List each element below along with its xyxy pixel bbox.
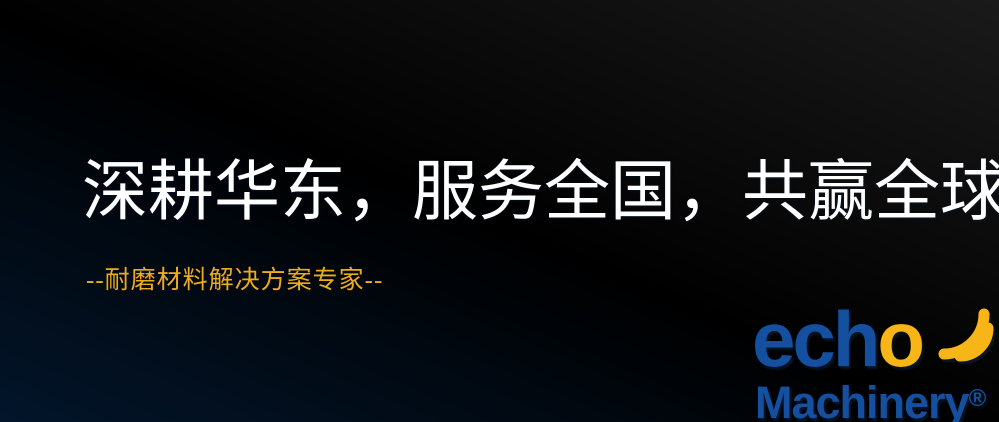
- logo-subtext: Machinery®: [755, 376, 986, 422]
- banner-headline: 深耕华东，服务全国，共赢全球: [82, 157, 999, 229]
- logo-wordmark-echo: echo: [752, 300, 922, 378]
- logo-wordmark-ech: ech: [752, 295, 877, 383]
- banner-subtitle: --耐磨材料解决方案专家--: [86, 266, 383, 296]
- logo-subtext-label: Machinery: [755, 377, 969, 422]
- registered-trademark-mark: ®: [969, 385, 987, 412]
- signal-arcs-icon: [930, 298, 999, 370]
- hero-banner: 深耕华东，服务全国，共赢全球 --耐磨材料解决方案专家-- echo Machi…: [0, 0, 999, 422]
- company-logo[interactable]: echo Machinery®: [752, 300, 999, 422]
- logo-wordmark-o: o: [877, 295, 922, 383]
